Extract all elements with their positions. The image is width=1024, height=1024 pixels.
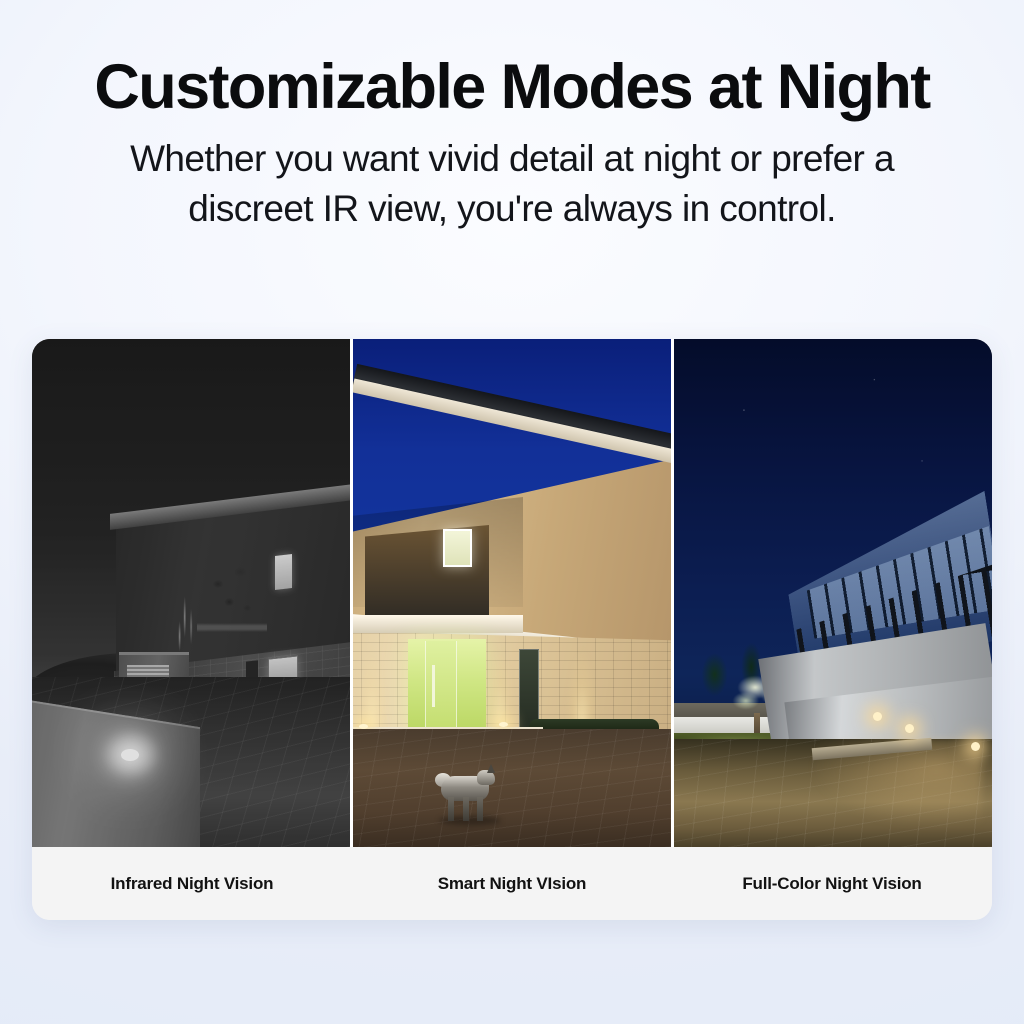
- scene-full-color-night-vision: [674, 339, 992, 847]
- header: Customizable Modes at Night Whether you …: [0, 0, 1024, 234]
- caption-cell-smart: Smart Night VIsion: [352, 847, 672, 920]
- caption-smart: Smart Night VIsion: [438, 874, 586, 894]
- smart-ground-spot-right: [499, 722, 508, 727]
- caption-cell-infrared: Infrared Night Vision: [32, 847, 352, 920]
- caption-row: Infrared Night Vision Smart Night VIsion…: [32, 847, 992, 920]
- smart-uplight-left: [355, 647, 389, 727]
- smart-dog-leg-3: [477, 797, 483, 821]
- fullcolor-wall-light-1: [873, 712, 882, 721]
- smart-entry-canopy: [353, 615, 523, 633]
- smart-door-panel: [425, 641, 457, 733]
- promo-page: Customizable Modes at Night Whether you …: [0, 0, 1024, 1024]
- caption-cell-full-color: Full-Color Night Vision: [672, 847, 992, 920]
- subtitle-line-2: discreet IR view, you're always in contr…: [47, 184, 977, 234]
- scene-infrared-night-vision: [32, 339, 350, 847]
- fullcolor-wall-light-3: [971, 742, 980, 751]
- smart-uplight-middle: [483, 647, 517, 727]
- gallery-card: Infrared Night Vision Smart Night VIsion…: [32, 339, 992, 920]
- page-title: Customizable Modes at Night: [0, 0, 1024, 122]
- smart-upper-window: [443, 529, 472, 567]
- panel-full-color[interactable]: [674, 339, 992, 847]
- smart-door-handle: [432, 665, 435, 707]
- smart-dog-leg-1: [448, 797, 454, 821]
- caption-full-color: Full-Color Night Vision: [742, 874, 921, 894]
- scene-smart-night-vision: [353, 339, 671, 847]
- smart-paving: [353, 729, 671, 847]
- fullcolor-wall-light-2: [905, 724, 914, 733]
- panel-smart[interactable]: [353, 339, 671, 847]
- subtitle-line-1: Whether you want vivid detail at night o…: [47, 134, 977, 184]
- panel-row: [32, 339, 992, 847]
- panel-infrared[interactable]: [32, 339, 350, 847]
- smart-dog-leg-2: [463, 797, 469, 821]
- infrared-darkening-veil: [32, 339, 350, 847]
- page-subtitle: Whether you want vivid detail at night o…: [47, 122, 977, 234]
- smart-uplight-right: [565, 647, 599, 727]
- caption-infrared: Infrared Night Vision: [111, 874, 274, 894]
- smart-dog-ear: [487, 764, 495, 773]
